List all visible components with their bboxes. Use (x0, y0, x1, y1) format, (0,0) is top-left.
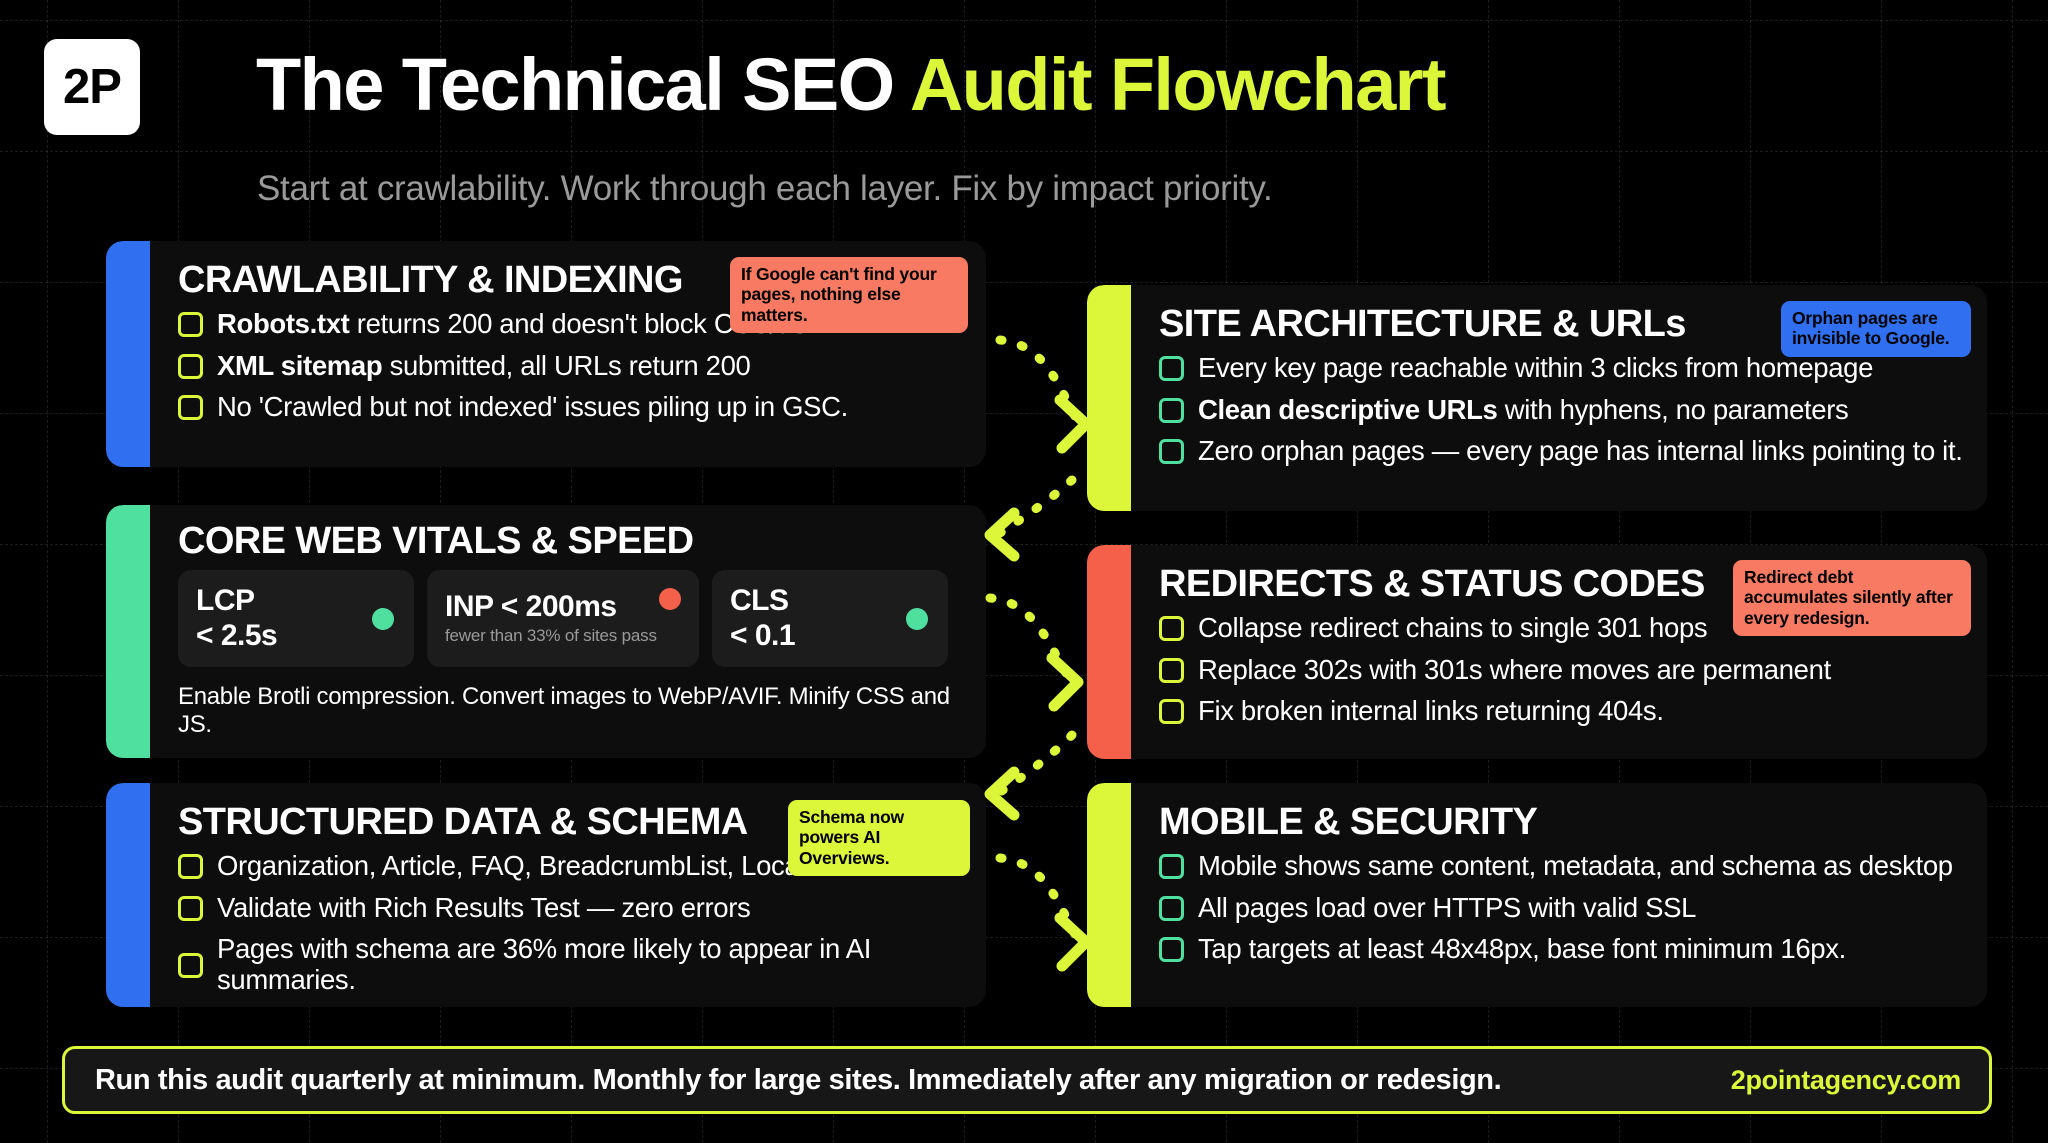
card-accent-bar (1087, 285, 1131, 511)
list-item: Clean descriptive URLs with hyphens, no … (1159, 395, 1963, 426)
checkbox-icon[interactable] (1159, 699, 1184, 724)
arrowhead-right-1 (1060, 400, 1086, 448)
card-badge: Schema now powers AI Overviews. (788, 800, 970, 876)
list-item-label: No 'Crawled but not indexed' issues pili… (217, 392, 848, 423)
connector-arrow-2 (1000, 480, 1072, 533)
arrowhead-right-2 (1052, 658, 1078, 706)
list-item: No 'Crawled but not indexed' issues pili… (178, 392, 962, 423)
checkbox-icon[interactable] (1159, 616, 1184, 641)
list-item-label: All pages load over HTTPS with valid SSL (1198, 893, 1696, 924)
list-item-label: Fix broken internal links returning 404s… (1198, 696, 1664, 727)
card-accent-bar (106, 505, 150, 758)
list-item-label: Tap targets at least 48x48px, base font … (1198, 934, 1846, 965)
checkbox-icon[interactable] (178, 896, 203, 921)
checklist: Every key page reachable within 3 clicks… (1159, 353, 1963, 467)
list-item: Fix broken internal links returning 404s… (1159, 696, 1963, 727)
list-item: Replace 302s with 301s where moves are p… (1159, 655, 1963, 686)
card-badge: Redirect debt accumulates silently after… (1733, 560, 1971, 636)
arrowhead-left-1 (990, 513, 1014, 556)
connector-arrow-4 (1000, 735, 1072, 792)
card-badge: Orphan pages are invisible to Google. (1781, 301, 1971, 357)
list-item-label: Pages with schema are 36% more likely to… (217, 934, 962, 996)
status-dot-good-icon (906, 608, 928, 630)
list-item-label: Every key page reachable within 3 clicks… (1198, 353, 1873, 384)
card-badge: If Google can't find your pages, nothing… (730, 257, 968, 333)
checklist: Mobile shows same content, metadata, and… (1159, 851, 1963, 965)
checkbox-icon[interactable] (1159, 937, 1184, 962)
metric-chip-lcp: LCP < 2.5s (178, 570, 414, 668)
brand-logo: 2P (44, 39, 140, 135)
checkbox-icon[interactable] (1159, 356, 1184, 381)
checkbox-icon[interactable] (178, 312, 203, 337)
list-item-label: Clean descriptive URLs with hyphens, no … (1198, 395, 1848, 426)
list-item-label: Replace 302s with 301s where moves are p… (1198, 655, 1831, 686)
card-crawlability: CRAWLABILITY & INDEXING If Google can't … (106, 241, 986, 467)
connector-arrow-3 (990, 598, 1068, 676)
metric-name: LCP (196, 584, 396, 617)
metric-chip-inp: INP < 200ms fewer than 33% of sites pass (427, 570, 699, 668)
checkbox-icon[interactable] (178, 953, 203, 978)
list-item: Every key page reachable within 3 clicks… (1159, 353, 1963, 384)
list-item: Tap targets at least 48x48px, base font … (1159, 934, 1963, 965)
metric-note: fewer than 33% of sites pass (445, 626, 681, 646)
footer-url[interactable]: 2pointagency.com (1731, 1065, 1961, 1096)
card-title: CORE WEB VITALS & SPEED (178, 522, 962, 562)
checkbox-icon[interactable] (178, 854, 203, 879)
checkbox-icon[interactable] (178, 354, 203, 379)
page-title-accent: Audit Flowchart (910, 43, 1445, 126)
card-core-web-vitals: CORE WEB VITALS & SPEED LCP < 2.5s INP <… (106, 505, 986, 758)
card-mobile-security: MOBILE & SECURITY Mobile shows same cont… (1087, 783, 1987, 1007)
list-item: Mobile shows same content, metadata, and… (1159, 851, 1963, 882)
list-item-label: Mobile shows same content, metadata, and… (1198, 851, 1953, 882)
list-item: XML sitemap submitted, all URLs return 2… (178, 351, 962, 382)
metric-chip-cls: CLS < 0.1 (712, 570, 948, 668)
list-item: Zero orphan pages — every page has inter… (1159, 436, 1963, 467)
card-accent-bar (106, 783, 150, 1007)
page-title: The Technical SEO Audit Flowchart (256, 48, 1445, 122)
card-footnote: Enable Brotli compression. Convert image… (178, 683, 962, 739)
checkbox-icon[interactable] (1159, 854, 1184, 879)
metric-name: INP < 200ms (445, 590, 681, 623)
checkbox-icon[interactable] (178, 395, 203, 420)
metric-value: < 0.1 (730, 619, 930, 653)
metric-name: CLS (730, 584, 930, 617)
list-item-label: Zero orphan pages — every page has inter… (1198, 436, 1963, 467)
list-item-label: Robots.txt returns 200 and doesn't block… (217, 309, 808, 340)
card-accent-bar (1087, 783, 1131, 1007)
status-dot-good-icon (372, 608, 394, 630)
arrowhead-left-2 (990, 772, 1014, 815)
checkbox-icon[interactable] (1159, 658, 1184, 683)
metric-value: < 2.5s (196, 619, 396, 653)
list-item: Validate with Rich Results Test — zero e… (178, 893, 962, 924)
list-item-label: XML sitemap submitted, all URLs return 2… (217, 351, 751, 382)
footer-text: Run this audit quarterly at minimum. Mon… (95, 1064, 1501, 1097)
card-accent-bar (1087, 545, 1131, 759)
page-title-white: The Technical SEO (256, 43, 910, 126)
card-title: MOBILE & SECURITY (1159, 803, 1963, 843)
page-subtitle: Start at crawlability. Work through each… (257, 169, 1272, 209)
card-accent-bar (106, 241, 150, 467)
checkbox-icon[interactable] (1159, 439, 1184, 464)
checkbox-icon[interactable] (1159, 398, 1184, 423)
checkbox-icon[interactable] (1159, 896, 1184, 921)
list-item-label: Validate with Rich Results Test — zero e… (217, 893, 750, 924)
connector-arrow-1 (1000, 340, 1076, 418)
card-site-architecture: SITE ARCHITECTURE & URLs Orphan pages ar… (1087, 285, 1987, 511)
connector-arrow-5 (1000, 858, 1076, 936)
list-item: All pages load over HTTPS with valid SSL (1159, 893, 1963, 924)
card-redirects: REDIRECTS & STATUS CODES Redirect debt a… (1087, 545, 1987, 759)
footer-bar: Run this audit quarterly at minimum. Mon… (62, 1046, 1992, 1114)
page-header: 2P The Technical SEO Audit Flowchart Sta… (44, 24, 2008, 184)
list-item-label: Collapse redirect chains to single 301 h… (1198, 613, 1707, 644)
metric-chip-group: LCP < 2.5s INP < 200ms fewer than 33% of… (178, 570, 962, 668)
status-dot-bad-icon (659, 588, 681, 610)
card-structured-data: STRUCTURED DATA & SCHEMA Schema now powe… (106, 783, 986, 1007)
list-item: Pages with schema are 36% more likely to… (178, 934, 962, 996)
arrowhead-right-3 (1060, 918, 1086, 966)
